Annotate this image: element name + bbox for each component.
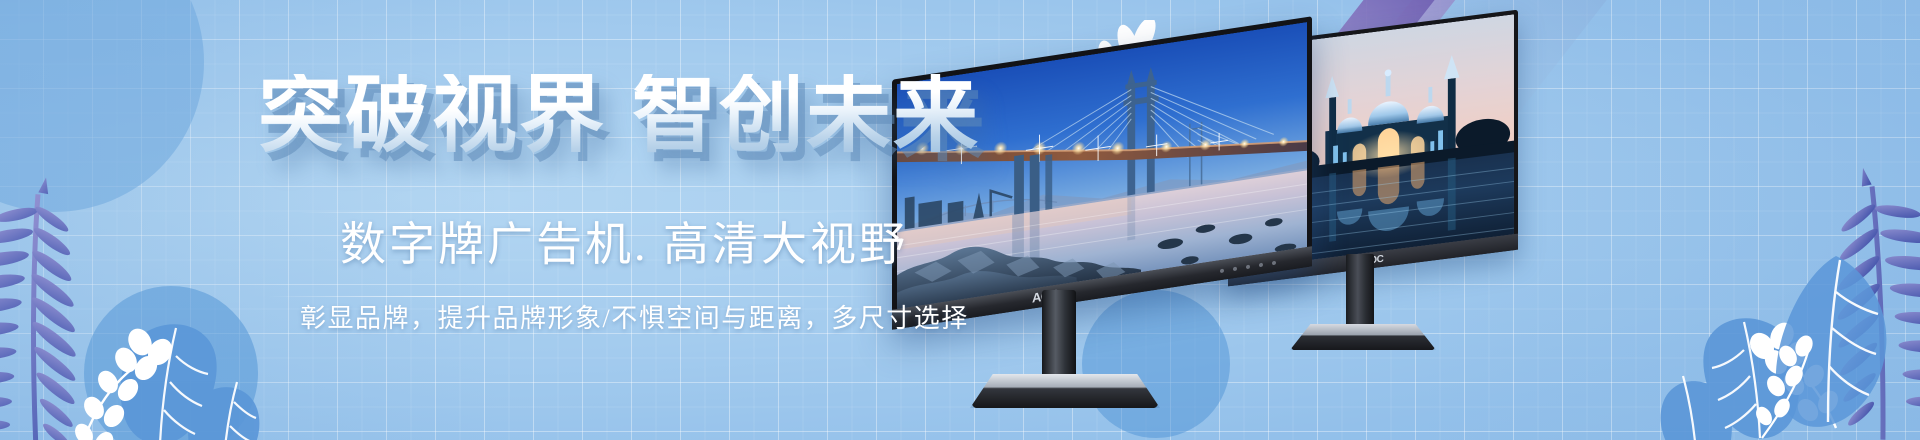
monitor-osd-buttons[interactable] [1220,261,1276,273]
divider-bottom [268,296,880,297]
headline-part-1: 突破视界 [258,69,606,163]
banner-copy: 突破视界智创未来 数字牌广告机. 高清大视野 彰显品牌，提升品牌形象/不惧空间与… [0,0,1080,440]
banner-tagline: 彰显品牌，提升品牌形象/不惧空间与距离，多尺寸选择 [300,306,969,332]
divider-top [300,212,840,213]
promo-banner: AOC [0,0,1920,440]
banner-subtitle: 数字牌广告机. 高清大视野 [340,222,908,268]
page-title: 突破视界智创未来 [258,74,980,159]
headline-part-2: 智创未来 [632,69,980,163]
